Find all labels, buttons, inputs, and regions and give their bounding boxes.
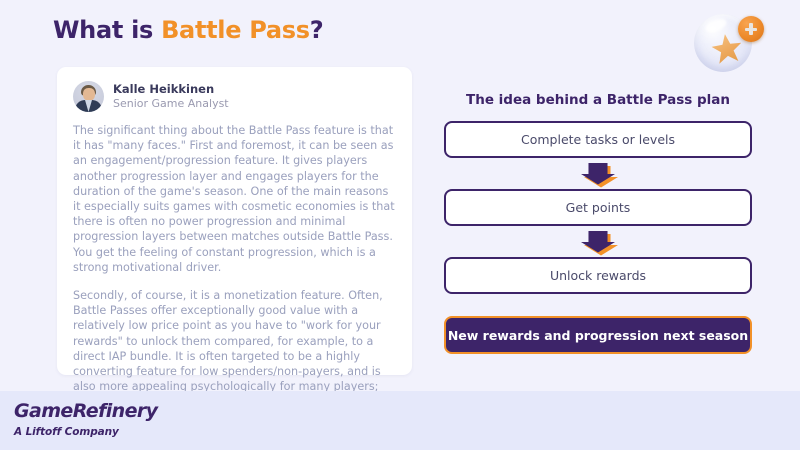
author-name: Kalle Heikkinen [113, 82, 229, 96]
page-title-highlight: Battle Pass [161, 16, 310, 44]
brand-name: GameRefinery [14, 402, 157, 421]
page-title-prefix: What is [53, 16, 161, 44]
quote-card: Kalle Heikkinen Senior Game Analyst The … [57, 67, 412, 375]
flow-diagram: The idea behind a Battle Pass plan Compl… [444, 92, 752, 354]
plus-badge-icon [738, 16, 764, 42]
flow-step-1: Complete tasks or levels [444, 121, 752, 158]
flow-heading: The idea behind a Battle Pass plan [444, 92, 752, 108]
brand-tagline: A Liftoff Company [14, 426, 157, 438]
page-title: What is Battle Pass? [53, 16, 323, 44]
flow-final-step: New rewards and progression next season [444, 316, 752, 354]
arrow-down-icon [444, 158, 752, 189]
footer: GameRefinery A Liftoff Company [0, 391, 800, 450]
page-title-suffix: ? [310, 16, 324, 44]
flow-step-3: Unlock rewards [444, 257, 752, 294]
quote-paragraph: The significant thing about the Battle P… [73, 123, 396, 275]
star-icon [710, 32, 744, 66]
arrow-down-icon [444, 226, 752, 257]
badge-artwork [690, 8, 786, 76]
flow-step-2: Get points [444, 189, 752, 226]
avatar [73, 81, 104, 112]
author-block: Kalle Heikkinen Senior Game Analyst [73, 81, 396, 112]
brand-logo: GameRefinery A Liftoff Company [14, 402, 157, 438]
author-role: Senior Game Analyst [113, 97, 229, 111]
